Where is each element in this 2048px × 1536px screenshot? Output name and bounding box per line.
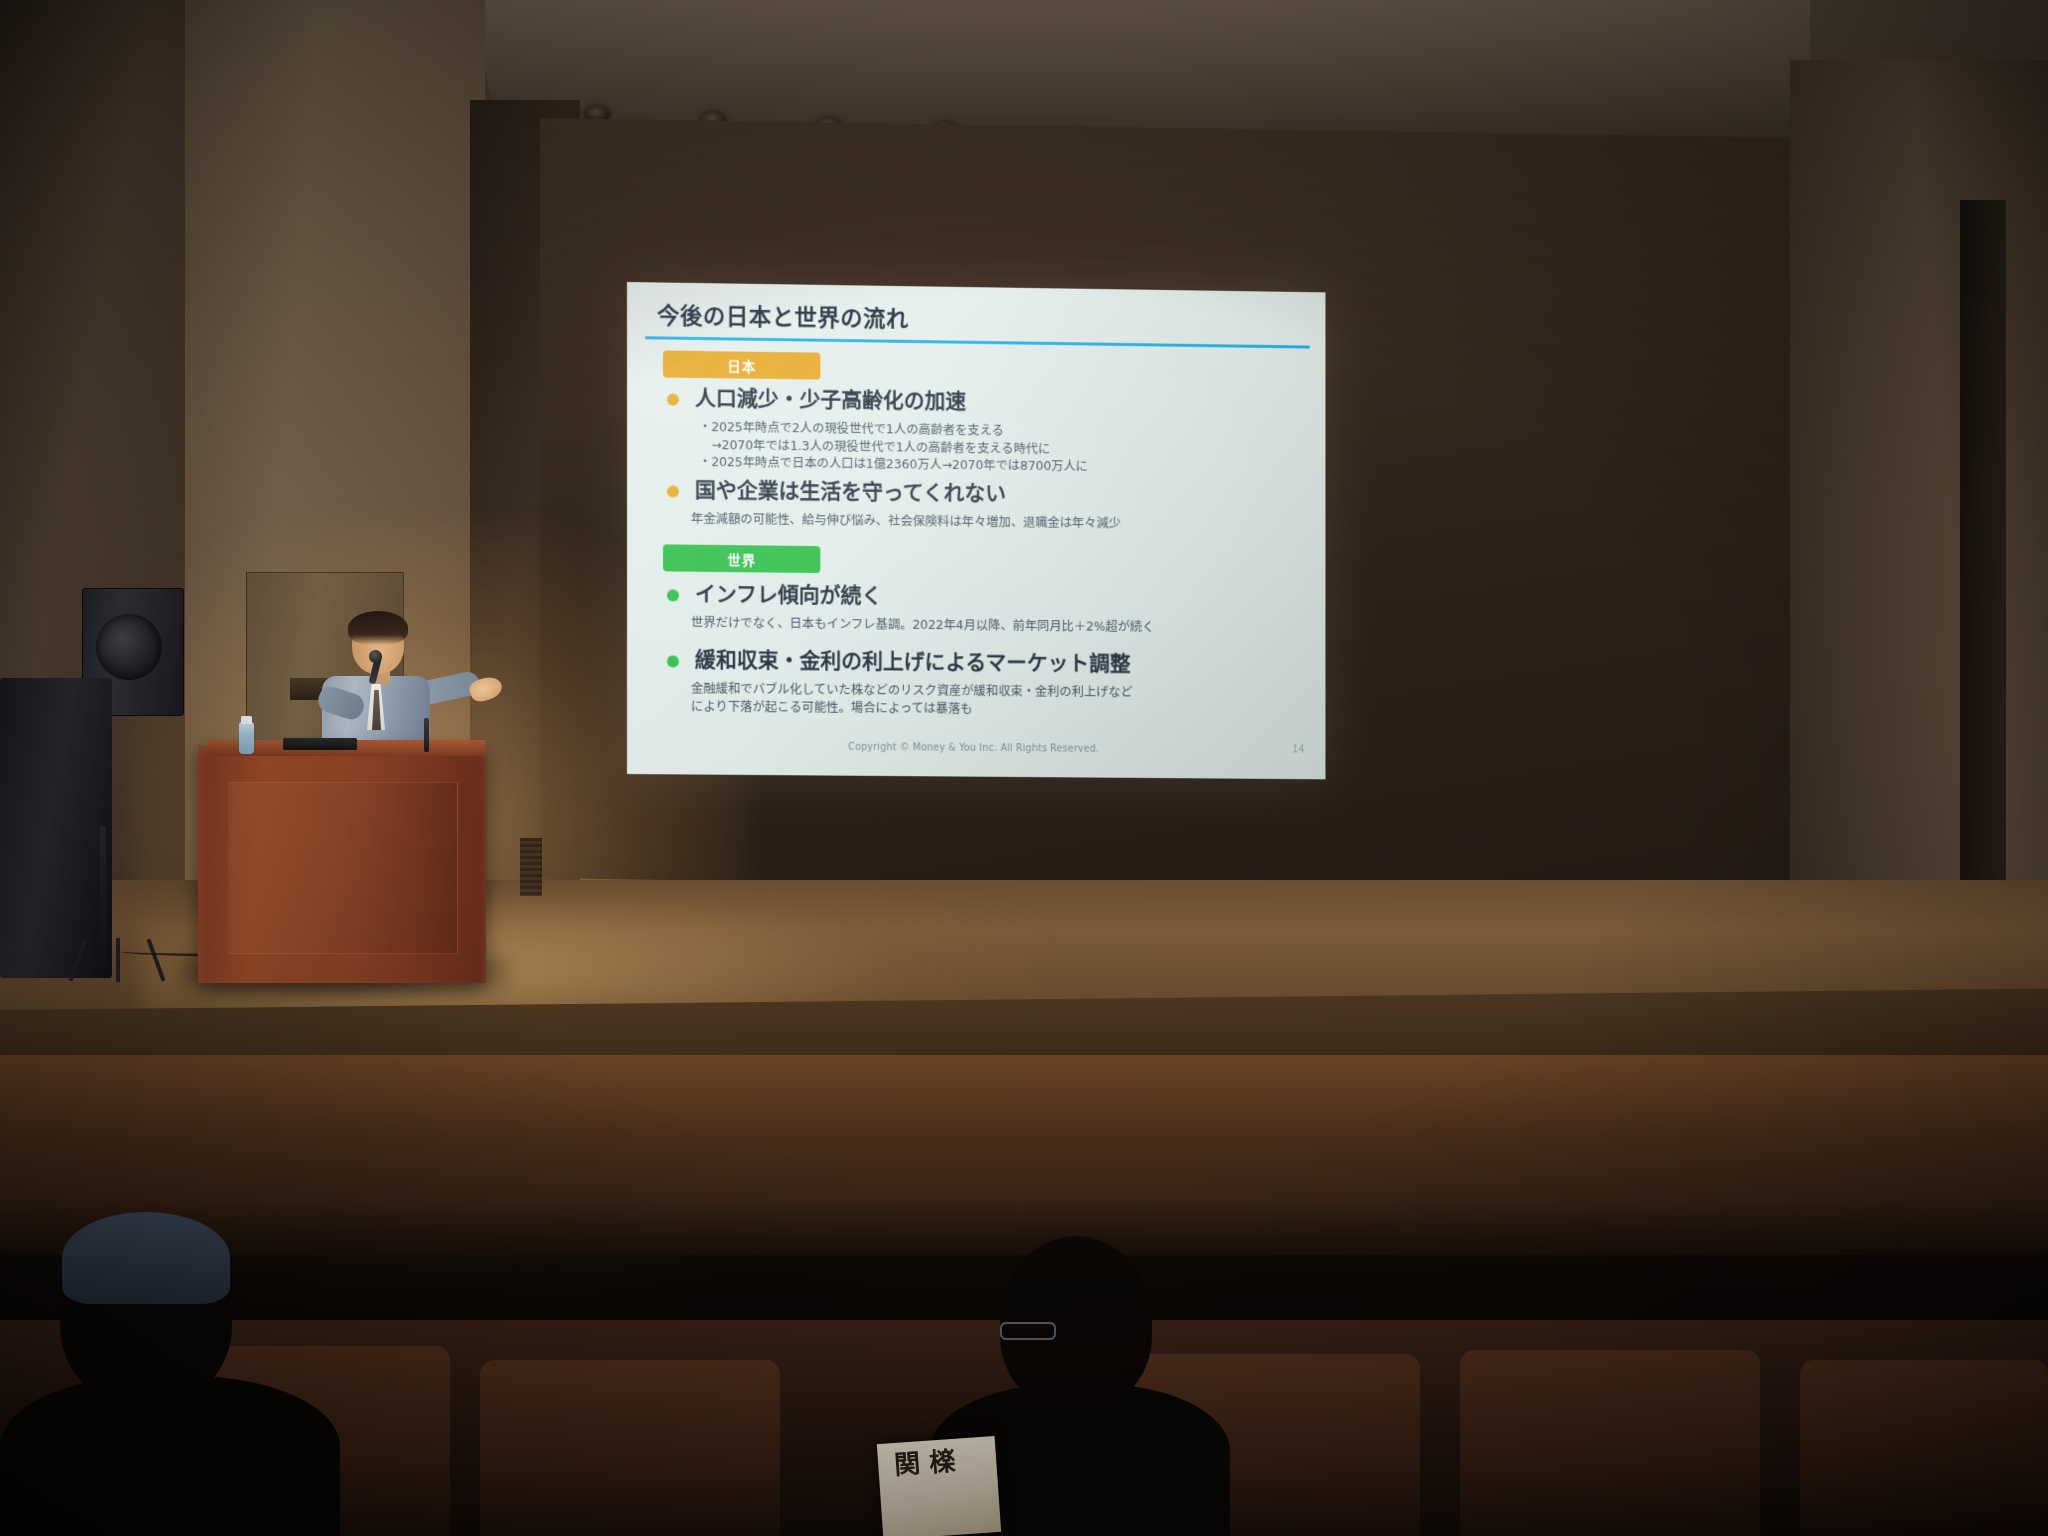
section-chip-japan: 日本 <box>663 350 820 379</box>
sub-line: ・2025年時点で日本の人口は1億2360万人→2070年では8700万人に <box>699 453 1088 475</box>
microphone-head-icon <box>369 650 382 663</box>
floor-vent <box>520 838 542 896</box>
bullet-japan-1-subtext: ・2025年時点で2人の現役世代で1人の高齢者を支える →2070年では1.3人… <box>699 418 1088 475</box>
bullet-japan-2: 国や企業は生活を守ってくれない <box>667 478 1006 505</box>
section-chip-world-label: 世界 <box>727 549 756 569</box>
seat <box>480 1360 780 1536</box>
audience-program-paper: 関 檪 <box>877 1436 1001 1536</box>
water-bottle-icon <box>239 722 254 754</box>
presenter-hair <box>348 611 408 645</box>
sub-line: 世界だけでなく、日本もインフレ基調。2022年4月以降、前年同月比＋2%超が続く <box>691 614 1154 636</box>
slide-surface: 今後の日本と世界の流れ 日本 人口減少・少子高齢化の加速 ・2025年時点で2人… <box>627 282 1325 779</box>
sub-line: 年金減額の可能性、給与伸び悩み、社会保険料は年々増加、退職金は年々減少 <box>691 510 1121 532</box>
laptop-icon <box>283 738 357 750</box>
pa-speaker-bottom <box>0 678 112 978</box>
seminar-photo-scene: 今後の日本と世界の流れ 日本 人口減少・少子高齢化の加速 ・2025年時点で2人… <box>0 0 2048 1536</box>
bullet-world-1: インフレ傾向が続く <box>667 582 882 607</box>
audience-cap <box>62 1212 230 1304</box>
section-chip-japan-label: 日本 <box>727 355 756 375</box>
speaker-cone-icon <box>96 614 162 680</box>
podium-front-panel <box>228 782 458 954</box>
slide-copyright: Copyright © Money & You Inc. All Rights … <box>848 742 1099 755</box>
bullet-world-2: 緩和収束・金利の利上げによるマーケット調整 <box>667 648 1131 675</box>
bullet-dot-icon <box>667 485 679 497</box>
section-chip-world: 世界 <box>663 544 820 573</box>
bullet-japan-1: 人口減少・少子高齢化の加速 <box>667 387 966 414</box>
bullet-dot-icon <box>667 589 679 601</box>
audience-glasses-icon <box>1000 1322 1056 1340</box>
bullet-japan-2-heading: 国や企業は生活を守ってくれない <box>695 479 1006 506</box>
water-bottle-cap <box>241 716 252 724</box>
title-underline-rule <box>645 336 1310 348</box>
tripod-leg <box>116 938 120 982</box>
podium-microphone-stand <box>424 718 429 752</box>
bullet-dot-icon <box>667 394 679 406</box>
seat <box>1800 1360 2048 1536</box>
slide-page-number: 14 <box>1292 744 1304 755</box>
bullet-japan-2-subtext: 年金減額の可能性、給与伸び悩み、社会保険料は年々増加、退職金は年々減少 <box>691 510 1121 532</box>
bullet-dot-icon <box>667 655 679 667</box>
bullet-world-1-subtext: 世界だけでなく、日本もインフレ基調。2022年4月以降、前年同月比＋2%超が続く <box>691 614 1154 636</box>
bullet-japan-1-heading: 人口減少・少子高齢化の加速 <box>695 387 966 414</box>
projected-slide: 今後の日本と世界の流れ 日本 人口減少・少子高齢化の加速 ・2025年時点で2人… <box>627 282 1325 779</box>
wall-right-recess <box>1960 200 2006 900</box>
speaker-tripod-legs <box>76 938 162 978</box>
program-paper-text: 関 檪 <box>893 1446 997 1480</box>
bullet-world-2-heading: 緩和収束・金利の利上げによるマーケット調整 <box>695 649 1131 676</box>
seat <box>1460 1350 1760 1536</box>
bullet-world-2-subtext: 金融緩和でバブル化していた株などのリスク資産が緩和収束・金利の利上げなど により… <box>691 680 1133 719</box>
bullet-world-1-heading: インフレ傾向が続く <box>695 583 882 608</box>
audience-shoulders <box>0 1376 340 1536</box>
slide-title: 今後の日本と世界の流れ <box>657 298 909 334</box>
